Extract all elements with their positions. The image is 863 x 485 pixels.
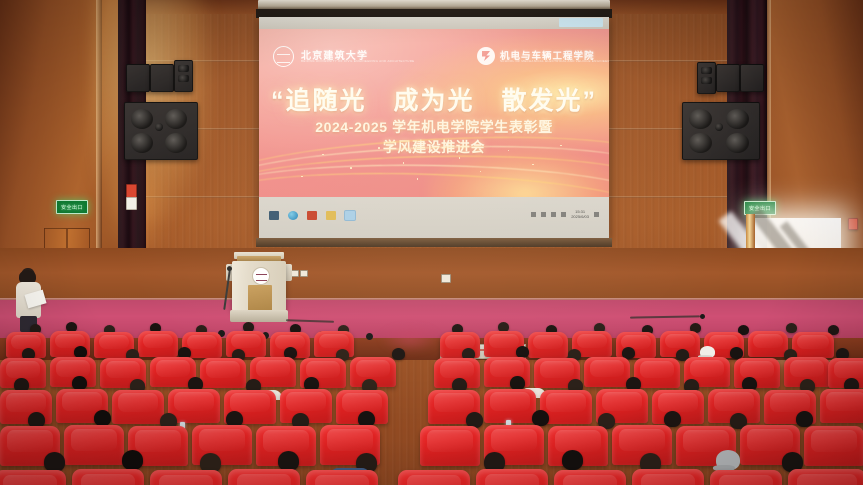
speaker-main-right [682,102,760,160]
powerpoint-icon[interactable] [307,211,317,220]
speaker-line-array-right [697,62,716,94]
slide-accent-block [559,18,603,27]
exit-sign-left: 安全出口 [56,200,88,214]
seat [748,331,788,357]
speaker-driver [178,75,189,82]
speaker-driver [131,133,153,153]
active-window-icon[interactable] [345,211,355,220]
notification-icon[interactable] [594,212,599,217]
slide-subtitle-line-1: 2024-2025 学年机电学院学生表彰暨 [259,117,609,137]
exit-sign-label: 安全出口 [61,204,83,211]
seat [64,425,124,465]
fire-alarm-icon-right [848,218,858,230]
stage-wall-switch-a [291,270,299,277]
seat [420,426,480,466]
speaker-driver [689,133,712,153]
university-subtitle-left: BEIJING UNIVERSITY OF CIVIL ENGINEERING … [301,59,414,63]
seat [476,469,548,485]
auditorium-scene: 北京建筑大学 BEIJING UNIVERSITY OF CIVIL ENGIN… [0,0,863,485]
seat [398,470,470,485]
speaker-small-left-b [150,64,174,92]
speaker-driver [701,67,712,74]
network-icon[interactable] [541,212,546,217]
floor-microphone [700,314,705,319]
seat [584,357,630,387]
seat [72,469,144,485]
podium-base [230,310,288,322]
grey-cap [716,450,740,470]
podium [230,252,288,328]
seat [484,389,536,423]
slide-logo-row: 北京建筑大学 BEIJING UNIVERSITY OF CIVIL ENGIN… [259,43,609,69]
speaker-driver [165,133,187,153]
speaker-tweeter [715,123,723,131]
seat [138,331,178,357]
seat [734,358,780,388]
speaker-line-array-left [174,60,193,92]
seat [150,470,222,485]
volume-icon[interactable] [551,212,556,217]
system-tray[interactable]: 15:31 2025/6/03 [531,209,599,219]
audience-seating [0,322,863,485]
stage-wall-outlet [441,274,451,283]
university-seal-icon [252,267,270,285]
taskbar-clock[interactable]: 15:31 2025/6/03 [571,209,589,219]
seat [792,332,834,358]
speaker-driver [689,109,712,129]
seat [710,470,782,485]
chevron-up-icon[interactable] [531,212,536,217]
speaker-driver [131,109,153,129]
university-seal-icon [273,46,294,67]
stage-wall-switch-b [300,270,308,277]
fire-equipment-plate-left [126,197,137,210]
speaker-driver [726,133,749,153]
edge-browser-icon[interactable] [288,211,298,220]
speaker-driver [178,65,189,72]
screen-bottom-frame [256,238,612,247]
clock-date: 2025/6/03 [571,214,589,219]
podium-body [232,261,286,311]
ime-icon[interactable] [561,212,566,217]
seat [0,470,66,485]
presentation-slide: 北京建筑大学 BEIJING UNIVERSITY OF CIVIL ENGIN… [259,29,609,197]
seat [820,389,863,423]
school-emblem-icon [477,47,495,65]
speaker-tweeter [155,123,163,131]
seat [788,469,863,485]
speaker-driver [726,109,749,129]
slide-sparkles [259,135,609,197]
slide-top-bar [259,17,609,29]
projection-screen: 北京建筑大学 BEIJING UNIVERSITY OF CIVIL ENGIN… [259,17,609,239]
seat [528,332,568,358]
seat [200,358,246,388]
speaker-driver [701,77,712,84]
slide-light-ribbons [259,135,609,197]
windows-start-icon[interactable] [269,211,279,220]
speaker-driver [165,109,187,129]
school-subtitle-right: SCHOOL OF MECHANICAL ELECTRICAL AND VEHI… [500,59,609,63]
windows-taskbar[interactable]: 15:31 2025/6/03 [259,197,609,239]
seat [804,426,863,466]
speaker-small-left-a [126,64,150,92]
seat [228,469,300,485]
seat [306,470,378,485]
taskbar-icon-group[interactable] [269,211,355,220]
seat [632,469,704,485]
slide-headline: “追随光 成为光 散发光” [259,81,609,117]
speaker-small-right-a [716,64,740,92]
speaker-small-right-b [740,64,764,92]
folder-icon[interactable] [326,211,336,220]
seat [112,390,164,424]
seat [554,470,626,485]
speaker-main-left [124,102,198,160]
